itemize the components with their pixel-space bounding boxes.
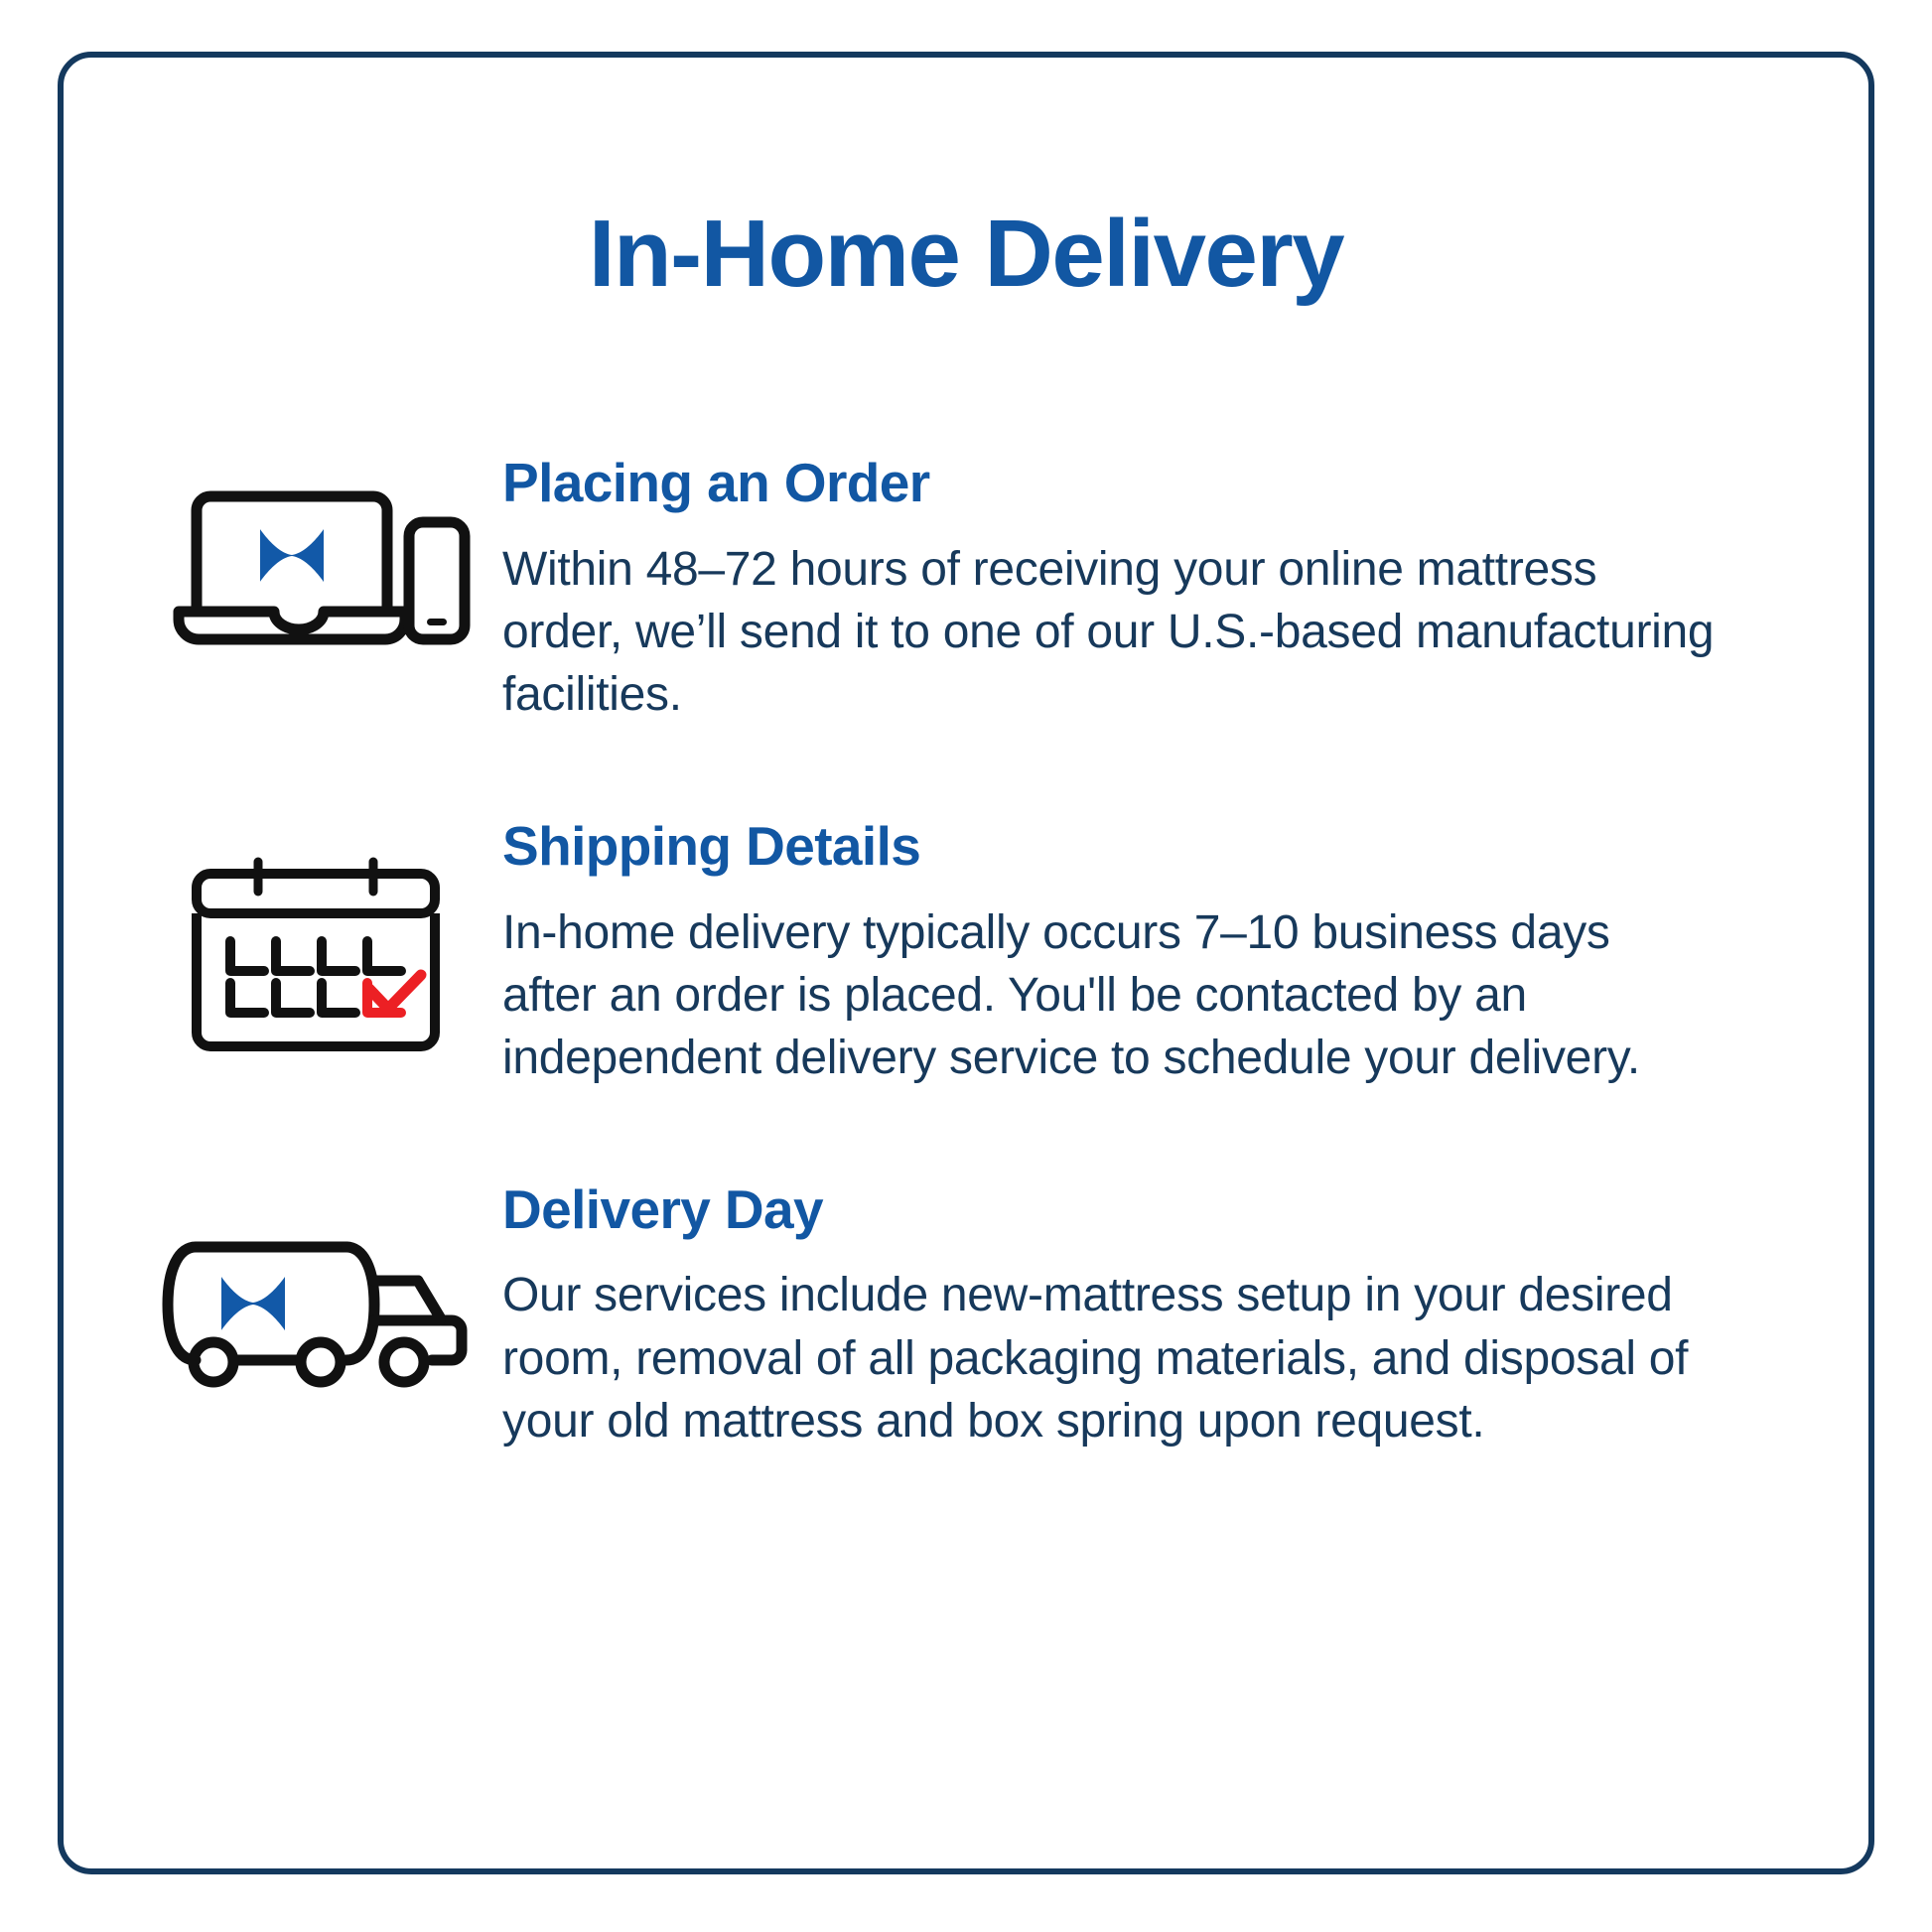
delivery-truck-icon (137, 1225, 494, 1389)
section-shipping-details: Shipping Details In-home delivery typica… (137, 818, 1809, 1090)
section-text: Our services include new-mattress setup … (502, 1264, 1716, 1452)
page-title: In-Home Delivery (64, 207, 1868, 302)
section-delivery-day: Delivery Day Our services include new-ma… (137, 1181, 1809, 1453)
section-heading: Placing an Order (502, 455, 1716, 512)
section-body: Shipping Details In-home delivery typica… (494, 818, 1716, 1090)
laptop-and-phone-icon (137, 483, 494, 646)
info-card: In-Home Delivery (58, 52, 1874, 1874)
section-text: In-home delivery typically occurs 7–10 b… (502, 901, 1716, 1090)
section-heading: Shipping Details (502, 818, 1716, 876)
calendar-with-check-icon (137, 856, 494, 1054)
infographic-page: In-Home Delivery (0, 0, 1932, 1932)
section-body: Delivery Day Our services include new-ma… (494, 1181, 1716, 1453)
section-heading: Delivery Day (502, 1181, 1716, 1239)
section-body: Placing an Order Within 48–72 hours of r… (494, 455, 1716, 727)
section-text: Within 48–72 hours of receiving your onl… (502, 538, 1716, 727)
section-placing-an-order: Placing an Order Within 48–72 hours of r… (137, 455, 1809, 727)
sections-list: Placing an Order Within 48–72 hours of r… (137, 455, 1809, 1452)
